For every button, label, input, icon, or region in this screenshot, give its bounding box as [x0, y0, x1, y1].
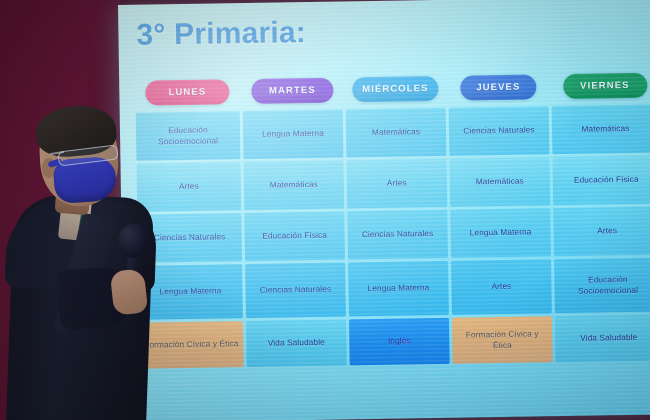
schedule-cell: Matemáticas — [449, 157, 550, 207]
schedule-row: Ciencias NaturalesEducación FísicaCienci… — [137, 207, 650, 263]
schedule-cell: Ciencias Naturales — [245, 262, 346, 318]
speaker-figure — [0, 0, 200, 420]
schedule-cell: Inglés — [349, 318, 450, 366]
schedule-cell: Matemáticas — [346, 108, 447, 158]
schedule-cell: Matemáticas — [552, 105, 650, 155]
schedule-cell: Artes — [553, 207, 650, 257]
schedule-cell: Educación Física — [244, 211, 345, 261]
schedule-cell: Lengua Materna — [243, 109, 344, 159]
schedule-cell: Artes — [346, 159, 447, 209]
schedule-cell: Educación Física — [552, 156, 650, 206]
day-pill-label: JUEVES — [476, 82, 520, 94]
day-pill-label: MARTES — [269, 85, 316, 97]
day-pill-jueves: JUEVES — [460, 74, 536, 100]
day-pill-label: VIERNES — [580, 80, 630, 92]
day-pill-martes: MARTES — [251, 78, 333, 104]
schedule-cell: Formación Cívica y Ética — [452, 316, 553, 364]
day-header-row: LUNES MARTES MIÉRCOLES JUEVES VIERNES — [135, 73, 650, 107]
schedule-cell: Ciencias Naturales — [449, 106, 550, 156]
schedule-row: Lengua MaternaCiencias NaturalesLengua M… — [138, 258, 650, 320]
schedule-row: ArtesMatemáticasArtesMatemáticasEducació… — [136, 156, 650, 212]
schedule-cell: Matemáticas — [243, 160, 344, 210]
schedule-cell: Vida Saludable — [246, 319, 347, 367]
schedule-row: Formación Cívica y ÉticaVida SaludableIn… — [139, 315, 650, 369]
schedule-cell: Vida Saludable — [555, 314, 650, 362]
conference-scene: 3° Primaria: LUNES MARTES MIÉRCOLES JUEV… — [0, 0, 650, 420]
schedule-cell: Lengua Materna — [348, 261, 449, 317]
day-pill-viernes: VIERNES — [563, 73, 647, 99]
schedule-cell: Lengua Materna — [450, 208, 551, 258]
day-pill-miercoles: MIÉRCOLES — [352, 76, 438, 102]
schedule-table: Educación SocioemocionalLengua MaternaMa… — [136, 105, 650, 372]
schedule-cell: Artes — [451, 259, 552, 315]
schedule-cell: Ciencias Naturales — [347, 210, 448, 260]
schedule-cell: Educación Socioemocional — [554, 258, 650, 314]
day-pill-label: MIÉRCOLES — [362, 83, 429, 95]
microphone-icon — [118, 224, 148, 258]
schedule-row: Educación SocioemocionalLengua MaternaMa… — [136, 105, 650, 161]
